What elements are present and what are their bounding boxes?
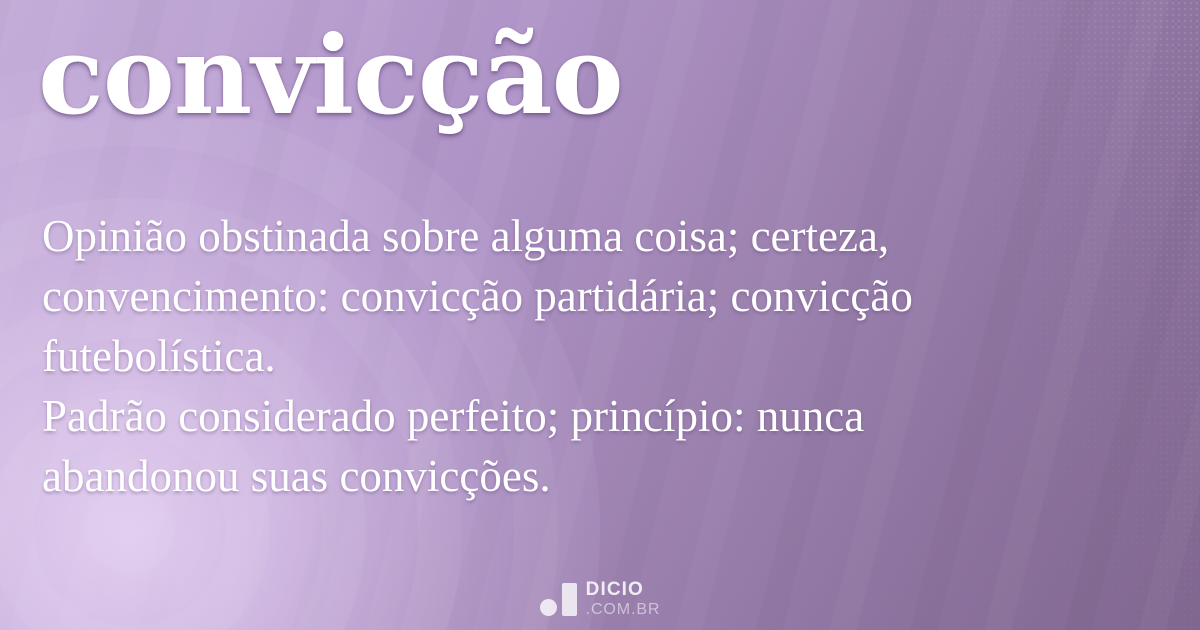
rounded-bar-icon [562, 583, 577, 616]
card-content: convicção Opinião obstinada sobre alguma… [0, 0, 1200, 630]
dictionary-entry-card: convicção Opinião obstinada sobre alguma… [0, 0, 1200, 630]
definition-line: Opinião obstinada sobre alguma coisa; ce… [42, 206, 1162, 266]
definition-line: futebolística. [42, 326, 1162, 386]
definition-line: abandonou suas convicções. [42, 446, 1162, 506]
logo-wordmark: DICIO .COM.BR [586, 580, 661, 618]
definition-line: Padrão considerado perfeito; princípio: … [42, 386, 1162, 446]
logo-mark [540, 582, 577, 616]
definition-line: convencimento: convicção partidária; con… [42, 266, 1162, 326]
logo-name: DICIO [586, 580, 661, 599]
circle-icon [540, 599, 557, 616]
logo-domain: .COM.BR [586, 602, 661, 618]
dicio-logo: DICIO .COM.BR [0, 580, 1200, 618]
definition-block: Opinião obstinada sobre alguma coisa; ce… [42, 206, 1162, 506]
page-title: convicção [38, 22, 623, 130]
